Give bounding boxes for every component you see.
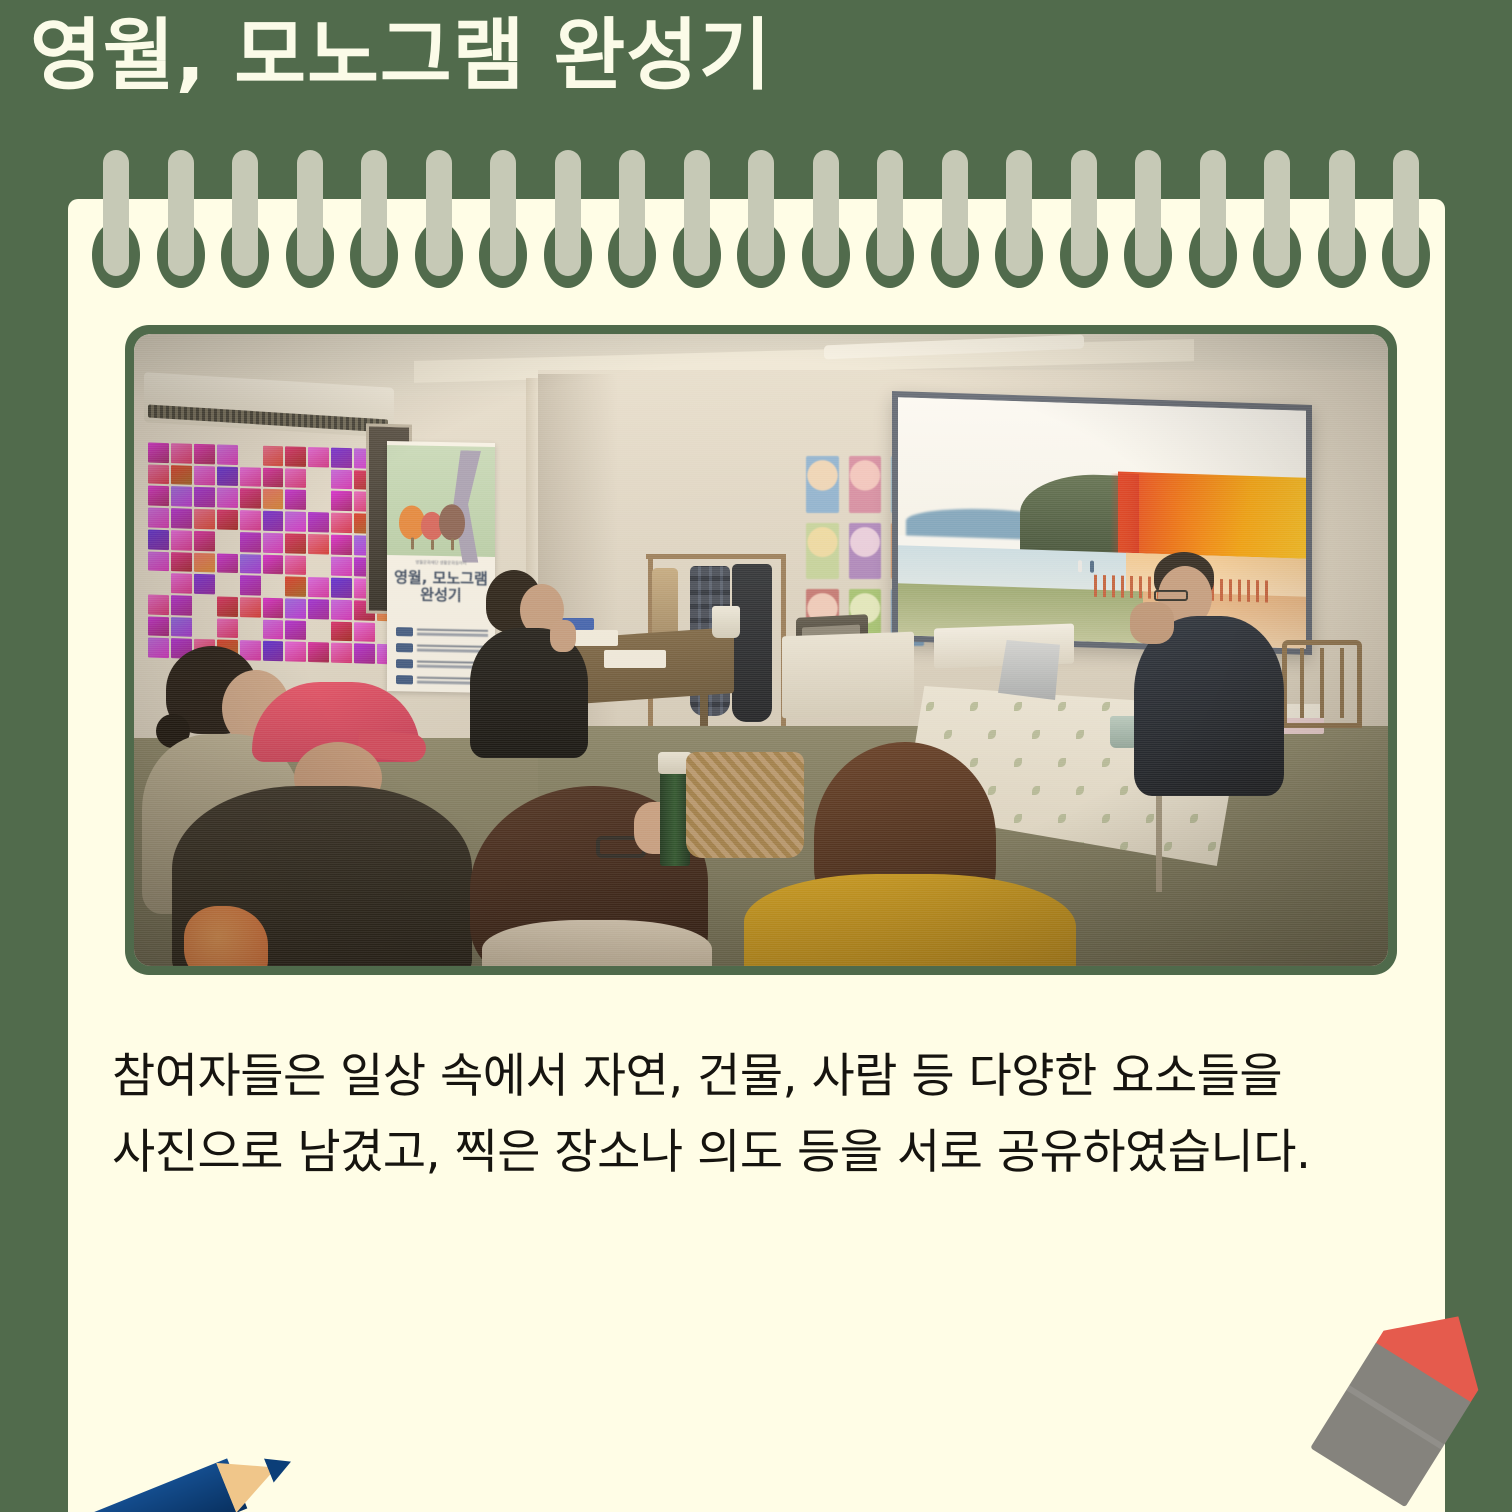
wall-photo (240, 597, 261, 617)
wall-photo (171, 508, 192, 528)
tablecloth-motif (1208, 842, 1216, 851)
wall-photo (263, 641, 284, 661)
wall-photo (285, 511, 306, 531)
tablecloth-motif (1014, 814, 1022, 823)
banner-info-line (417, 629, 488, 637)
drawn-portrait (849, 456, 882, 513)
wall-photo (354, 644, 375, 664)
mustard-sweater (744, 874, 1076, 966)
wall-photo (148, 573, 169, 593)
wall-photo (194, 509, 215, 529)
tablecloth-motif (1076, 786, 1084, 795)
page-title: 영월, 모노그램 완성기 (30, 14, 772, 100)
wall-photo (331, 469, 352, 489)
workshop-photo: 영월문화재단 생활문화동아리 영월, 모노그램 완성기 (134, 334, 1388, 966)
wall-photo (285, 446, 306, 466)
pencil-decoration (68, 1469, 498, 1512)
wall-photo (148, 594, 169, 614)
banner-tree-trunk (451, 538, 454, 550)
wall-photo (240, 575, 261, 595)
wall-photo (263, 467, 284, 487)
white-cabinet (782, 632, 914, 719)
coat-dark (732, 564, 772, 722)
hand (1130, 602, 1174, 644)
wall-photo (217, 553, 238, 573)
wall-photo (148, 486, 169, 506)
wall-photo (308, 599, 329, 619)
projected-sunset-edge (1110, 473, 1139, 564)
banner-subtitle: 영월문화재단 생활문화동아리 (397, 559, 485, 567)
wall-photo (331, 643, 352, 663)
wall-photo (331, 578, 352, 598)
wall-photo (148, 638, 169, 658)
tablecloth-motif (1032, 786, 1040, 795)
wall-photo (240, 467, 261, 487)
tablecloth-motif (988, 730, 996, 739)
tablecloth-motif (1102, 702, 1110, 711)
wall-photo (171, 552, 192, 572)
wall-photo (285, 620, 306, 640)
tablecloth-motif (1190, 814, 1198, 823)
wall-photo (194, 531, 215, 551)
wall-photo (194, 465, 215, 485)
tablecloth-motif (1058, 758, 1066, 767)
banner-info-tag (396, 627, 413, 636)
tablecloth-motif (1146, 814, 1154, 823)
wall-photo (171, 530, 192, 550)
wall-photo (331, 491, 352, 511)
wall-photo (263, 533, 284, 553)
knit-sweater (482, 920, 712, 966)
tablecloth-motif (1120, 786, 1128, 795)
wall-photo (217, 575, 238, 595)
wall-photo (263, 598, 284, 618)
paper-sheet (604, 650, 666, 668)
wall-photo (331, 621, 352, 641)
wall-photo (354, 622, 375, 642)
caption-text: 참여자들은 일상 속에서 자연, 건물, 사람 등 다양한 요소들을 사진으로 … (112, 1039, 1402, 1191)
wall-photo (308, 555, 329, 575)
tablecloth-motif (944, 730, 952, 739)
glasses (1154, 590, 1188, 601)
photo-grid-left (148, 443, 398, 665)
woven-bag (686, 752, 804, 858)
wall-photo (263, 511, 284, 531)
wall-photo (171, 573, 192, 593)
tablecloth-motif (1102, 814, 1110, 823)
wall-photo (148, 616, 169, 636)
tablecloth-motif (970, 758, 978, 767)
wall-photo (217, 596, 238, 616)
banner-tree-trunk (431, 540, 434, 550)
table-leg (1156, 792, 1162, 892)
banner-title: 영월, 모노그램 완성기 (393, 569, 489, 604)
wall-photo (194, 617, 215, 637)
wall-photo (194, 487, 215, 507)
wall-photo (217, 444, 238, 464)
wall-photo (263, 554, 284, 574)
wall-photo (217, 466, 238, 486)
wall-photo (217, 531, 238, 551)
coat-rack-bar (646, 554, 786, 559)
banner-info-tag (396, 659, 413, 668)
wall-photo (331, 600, 352, 620)
wall-photo (331, 513, 352, 533)
pencil-tip-blue (259, 1437, 301, 1496)
chair-slat (1340, 648, 1344, 718)
wall-photo (331, 556, 352, 576)
tablecloth-motif (1102, 758, 1110, 767)
wall-photo (285, 642, 306, 662)
wooden-chair (1282, 640, 1364, 830)
wall-photo (331, 534, 352, 554)
wall-photo (148, 551, 169, 571)
drawn-portrait (806, 523, 839, 580)
wall-photo (148, 529, 169, 549)
wall-photo (171, 443, 192, 463)
drawn-portrait (806, 456, 839, 513)
hand (550, 620, 576, 652)
wall-photo (308, 577, 329, 597)
wall-photo (240, 619, 261, 639)
banner-info-row (396, 643, 488, 654)
tablecloth-motif (1014, 758, 1022, 767)
wall-photo (263, 619, 284, 639)
tablecloth-motif (1032, 730, 1040, 739)
wall-photo (217, 510, 238, 530)
tablecloth-motif (1058, 702, 1066, 711)
tablecloth-motif (1058, 814, 1066, 823)
notebook-paper: 영월문화재단 생활문화동아리 영월, 모노그램 완성기 (68, 199, 1445, 1512)
wall-photo (171, 617, 192, 637)
wall-photo (263, 446, 284, 466)
wall-photo (285, 598, 306, 618)
wall-photo (171, 465, 192, 485)
wall-photo (148, 443, 169, 463)
tablecloth-motif (970, 702, 978, 711)
colored-pencil-blue (68, 1431, 314, 1512)
wall-photo (240, 532, 261, 552)
wall-photo (171, 595, 192, 615)
projected-image (898, 397, 1306, 649)
wall-photo (263, 489, 284, 509)
wall-photo (194, 444, 215, 464)
laptop (998, 640, 1060, 700)
projection-screen (892, 391, 1312, 655)
wall-photo (285, 468, 306, 488)
wall-photo (285, 490, 306, 510)
tablecloth-motif (1164, 842, 1172, 851)
wall-photo (240, 554, 261, 574)
tablecloth-motif (988, 786, 996, 795)
tablecloth-motif (1076, 730, 1084, 739)
slide-canvas: 영월, 모노그램 완성기 (0, 0, 1512, 1512)
wall-photo (240, 445, 261, 465)
wall-photo (285, 577, 306, 597)
banner-info-tag (396, 643, 413, 652)
wall-photo (308, 621, 329, 641)
chair-slat (1320, 648, 1324, 718)
tablecloth-motif (1014, 702, 1022, 711)
projected-person (1078, 560, 1082, 572)
banner-tree-trunk (411, 537, 414, 549)
wall-photo (285, 555, 306, 575)
wall-photo (217, 488, 238, 508)
wall-photo (194, 552, 215, 572)
wall-photo (308, 534, 329, 554)
wall-photo (263, 576, 284, 596)
banner-tree-brown (439, 504, 465, 540)
wall-photo (194, 596, 215, 616)
wall-photo (308, 469, 329, 489)
wall-photo (194, 574, 215, 594)
workshop-photo-frame[interactable]: 영월문화재단 생활문화동아리 영월, 모노그램 완성기 (125, 325, 1397, 975)
wall-photo (148, 508, 169, 528)
drawn-portrait (849, 523, 882, 580)
banner-illustration (387, 445, 495, 557)
wall-photo (331, 448, 352, 468)
wall-photo (308, 447, 329, 467)
wall-photo (148, 464, 169, 484)
wall-photo (308, 512, 329, 532)
projected-person (1090, 561, 1094, 573)
chair-slat (1300, 648, 1304, 718)
wall-photo (308, 642, 329, 662)
wall-photo (285, 533, 306, 553)
wall-photo (217, 618, 238, 638)
tablecloth-motif (926, 702, 934, 711)
wall-photo (171, 487, 192, 507)
banner-info-tag (396, 675, 413, 684)
wall-photo (308, 490, 329, 510)
mug (712, 606, 740, 638)
banner-info-row (396, 627, 488, 638)
wall-photo (240, 510, 261, 530)
wall-photo (240, 488, 261, 508)
